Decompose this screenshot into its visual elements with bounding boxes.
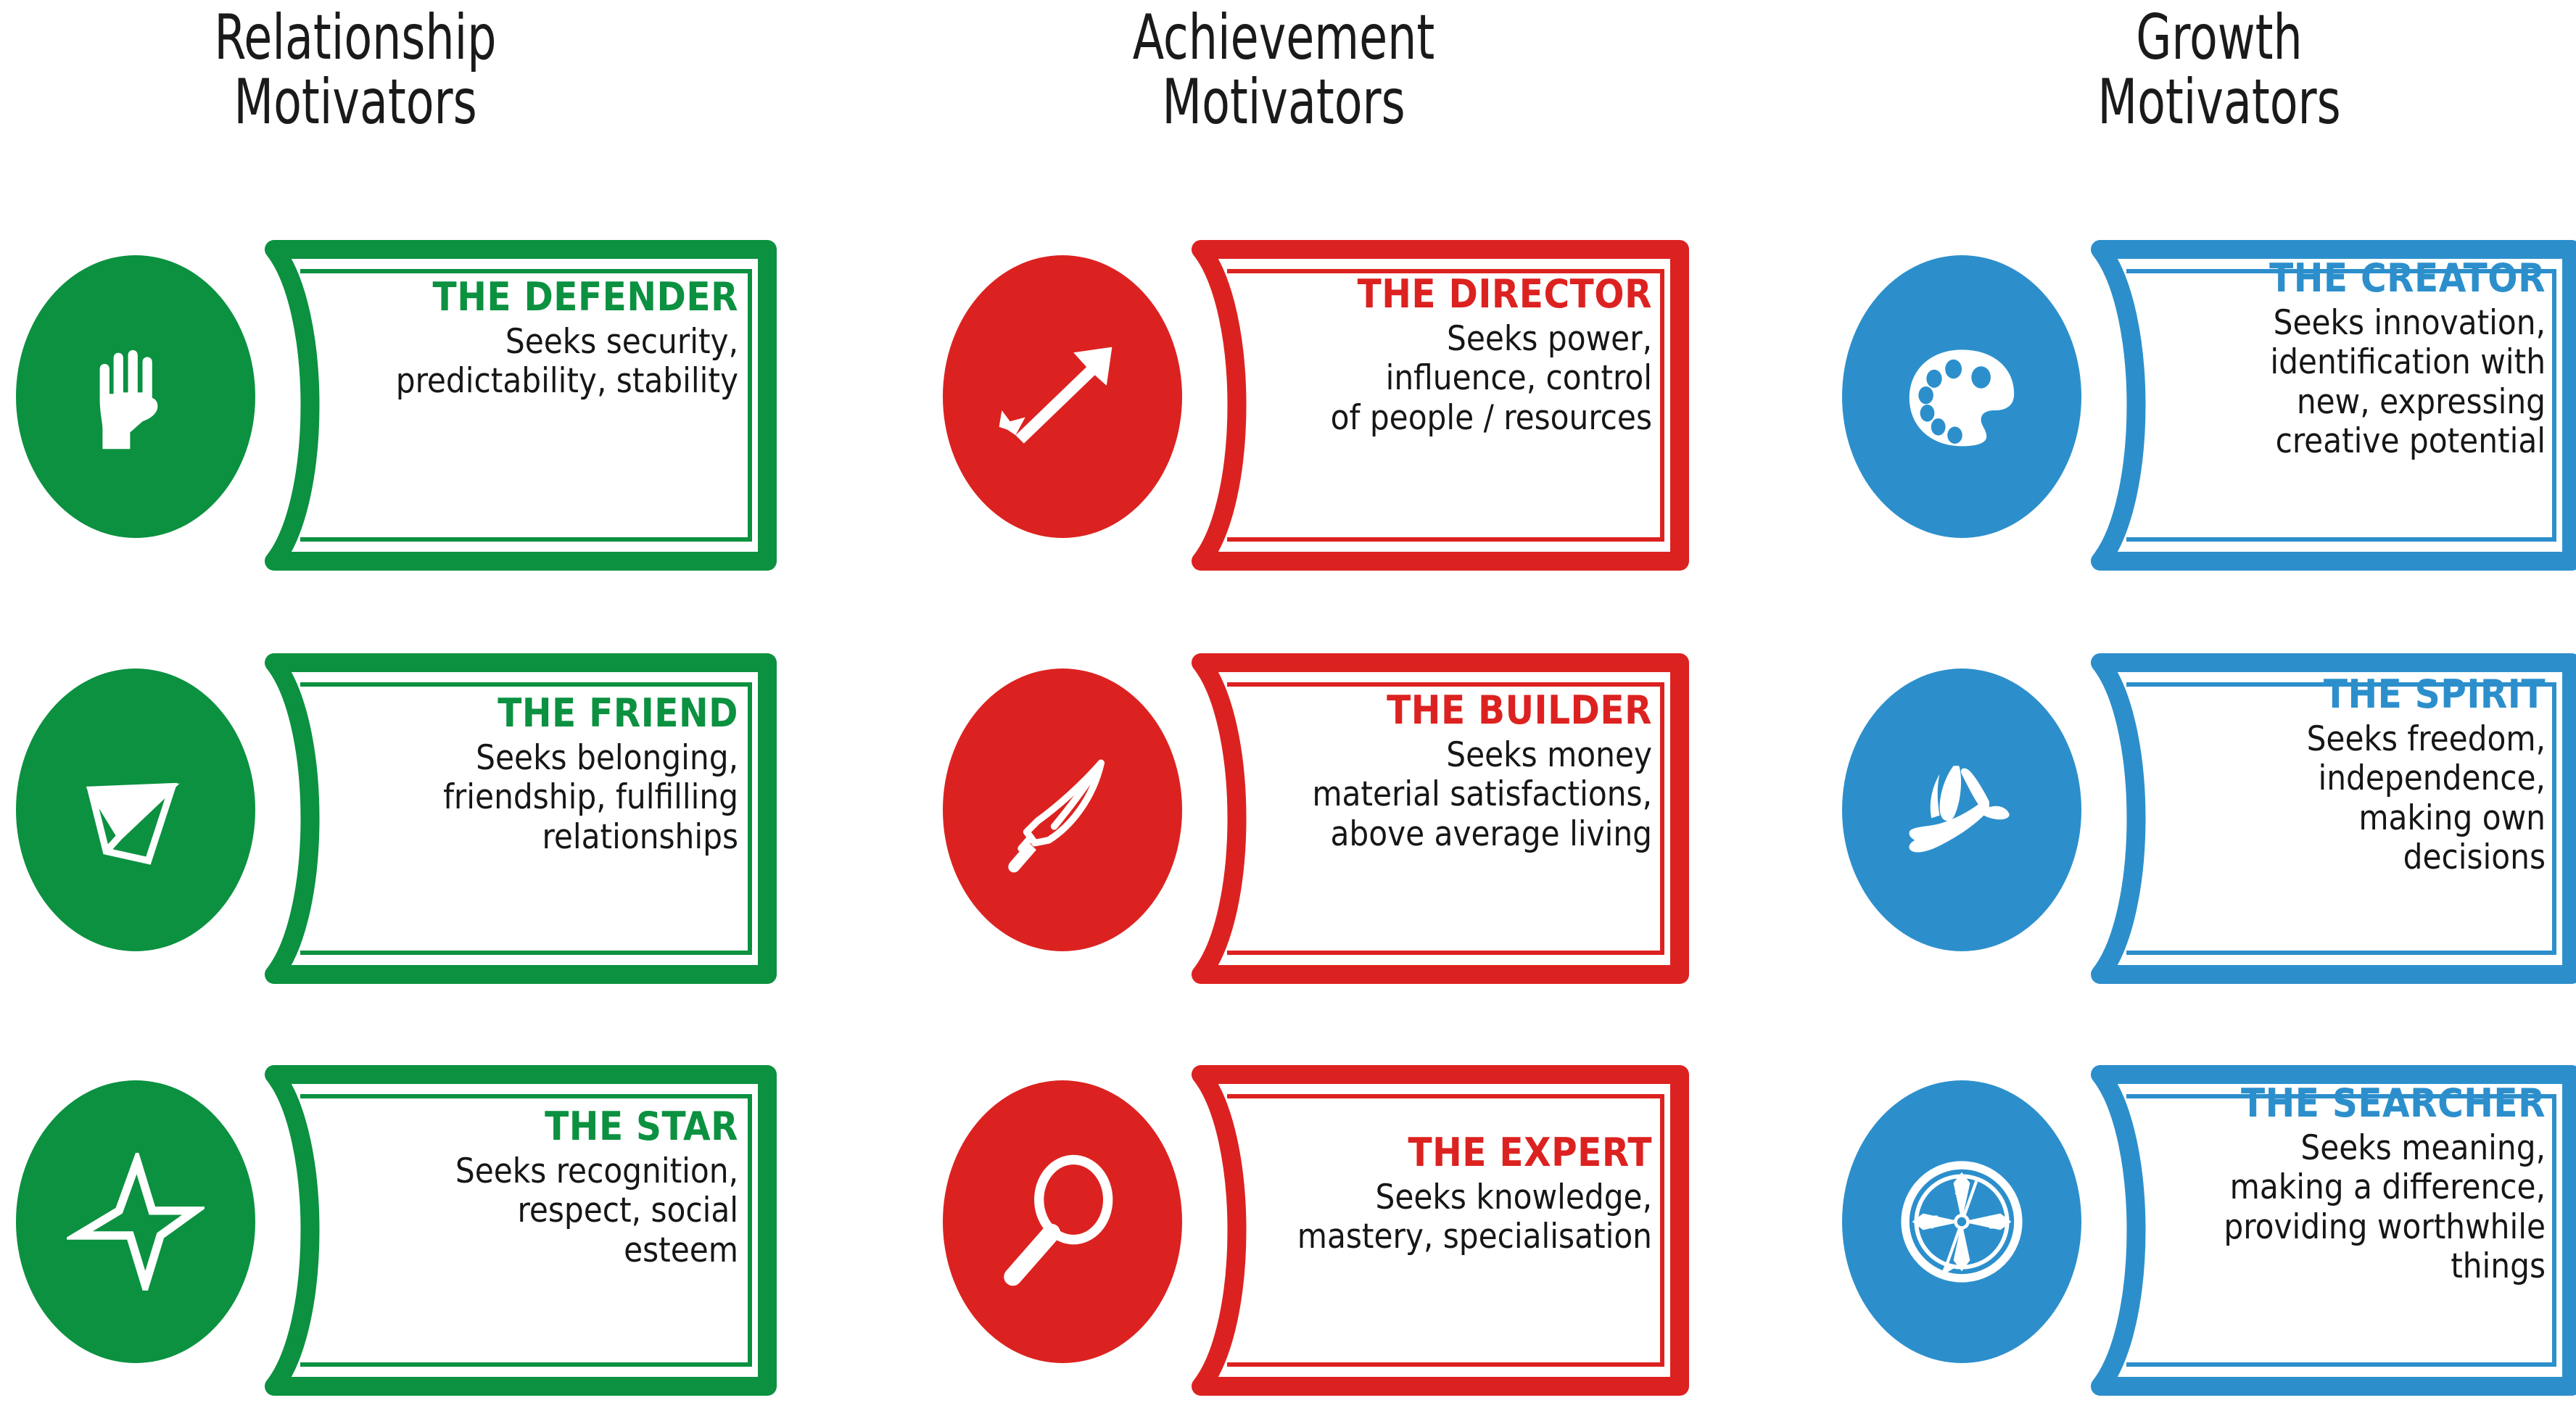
desc-line: Seeks power, <box>1252 320 1652 360</box>
desc-line: above average living <box>1252 815 1652 855</box>
card-banner: THE BUILDER Seeks money material satisfa… <box>1182 653 1690 985</box>
card-the-expert[interactable]: THE EXPERT Seeks knowledge, mastery, spe… <box>943 1064 1755 1412</box>
desc-line: of people / resources <box>1252 399 1652 439</box>
card-title: THE CREATOR <box>2151 258 2546 299</box>
card-the-friend[interactable]: THE FRIEND Seeks belonging, friendship, … <box>16 653 828 1001</box>
desc-line: making own <box>2151 799 2546 839</box>
card-title: THE STAR <box>328 1106 738 1148</box>
card-the-spirit[interactable]: THE SPIRIT Seeks freedom, independence, … <box>1842 653 2575 1001</box>
card-the-star[interactable]: THE STAR Seeks recognition, respect, soc… <box>16 1064 828 1412</box>
card-banner: THE EXPERT Seeks knowledge, mastery, spe… <box>1182 1064 1690 1396</box>
medallion-circle <box>16 1080 255 1363</box>
card-title: THE SPIRIT <box>2151 674 2546 716</box>
card-text-block: THE FRIEND Seeks belonging, friendship, … <box>328 693 738 857</box>
column-header-line2: Motivators <box>1952 70 2487 135</box>
card-text-block: THE SPIRIT Seeks freedom, independence, … <box>2151 674 2546 878</box>
card-text-block: THE EXPERT Seeks knowledge, mastery, spe… <box>1252 1133 1652 1257</box>
card-banner: THE SEARCHER Seeks meaning, making a dif… <box>2081 1064 2576 1396</box>
compass-label-south: S <box>1956 1246 1968 1267</box>
desc-line: Seeks security, <box>328 323 738 363</box>
column-header-line2: Motivators <box>88 70 623 135</box>
desc-line: respect, social <box>328 1191 738 1231</box>
card-text-block: THE BUILDER Seeks money material satisfa… <box>1252 690 1652 854</box>
dove-icon <box>1893 741 2031 879</box>
open-hand-icon <box>67 328 205 465</box>
desc-line: mastery, specialisation <box>1252 1217 1652 1257</box>
card-the-defender[interactable]: THE DEFENDER Seeks security, predictabil… <box>16 239 828 587</box>
trowel-icon <box>994 741 1131 879</box>
desc-line: providing worthwhile <box>2138 1208 2546 1248</box>
card-the-builder[interactable]: THE BUILDER Seeks money material satisfa… <box>943 653 1755 1001</box>
medallion-circle <box>1842 255 2081 538</box>
card-banner: THE CREATOR Seeks innovation, identifica… <box>2081 239 2576 571</box>
motivators-infographic: Relationship Motivators Achievement Moti… <box>0 0 2576 1424</box>
column-header-line2: Motivators <box>1016 70 1551 135</box>
column-header-growth: Growth Motivators <box>1952 6 2487 134</box>
card-banner: THE STAR Seeks recognition, respect, soc… <box>255 1064 777 1396</box>
medallion-circle <box>1842 668 2081 951</box>
desc-line: things <box>2138 1247 2546 1287</box>
desc-line: Seeks recognition, <box>328 1152 738 1192</box>
card-the-searcher[interactable]: N E S W THE SEARCHER Seeks meaning, maki… <box>1842 1064 2575 1412</box>
card-title: THE SEARCHER <box>2138 1083 2546 1125</box>
card-description: Seeks meaning, making a difference, prov… <box>2138 1129 2546 1287</box>
magnifying-glass-icon <box>994 1153 1131 1291</box>
desc-line: Seeks belonging, <box>328 739 738 779</box>
card-description: Seeks money material satisfactions, abov… <box>1252 736 1652 855</box>
card-description: Seeks security, predictability, stabilit… <box>328 323 738 402</box>
card-text-block: THE SEARCHER Seeks meaning, making a dif… <box>2138 1083 2546 1287</box>
desc-line: identification with <box>2151 343 2546 383</box>
card-description: Seeks knowledge, mastery, specialisation <box>1252 1178 1652 1257</box>
desc-line: Seeks knowledge, <box>1252 1178 1652 1218</box>
medallion-circle: N E S W <box>1842 1080 2081 1363</box>
star-outline-icon <box>67 1153 205 1291</box>
medallion-circle <box>16 668 255 951</box>
paint-palette-icon <box>1893 328 2031 465</box>
desc-line: Seeks meaning, <box>2138 1129 2546 1169</box>
card-text-block: THE DEFENDER Seeks security, predictabil… <box>328 277 738 402</box>
desc-line: esteem <box>328 1231 738 1271</box>
envelope-icon <box>67 741 205 879</box>
desc-line: making a difference, <box>2138 1168 2546 1208</box>
card-text-block: THE STAR Seeks recognition, respect, soc… <box>328 1106 738 1270</box>
column-header-line1: Growth <box>2136 1 2302 74</box>
desc-line: Seeks money <box>1252 736 1652 776</box>
card-the-creator[interactable]: THE CREATOR Seeks innovation, identifica… <box>1842 239 2575 587</box>
column-header-line1: Achievement <box>1133 1 1434 74</box>
desc-line: decisions <box>2151 838 2546 878</box>
compass-label-north: N <box>1954 1177 1970 1199</box>
card-description: Seeks belonging, friendship, fulfilling … <box>328 739 738 858</box>
medallion-circle <box>943 668 1182 951</box>
desc-line: new, expressing <box>2151 383 2546 423</box>
card-description: Seeks freedom, independence, making own … <box>2151 720 2546 878</box>
card-description: Seeks power, influence, control of peopl… <box>1252 320 1652 439</box>
card-text-block: THE CREATOR Seeks innovation, identifica… <box>2151 258 2546 462</box>
card-banner: THE SPIRIT Seeks freedom, independence, … <box>2081 653 2576 985</box>
card-title: THE DIRECTOR <box>1252 274 1652 315</box>
desc-line: material satisfactions, <box>1252 775 1652 815</box>
card-description: Seeks innovation, identification with ne… <box>2151 304 2546 462</box>
rising-arrow-icon <box>994 328 1131 465</box>
card-title: THE DEFENDER <box>328 277 738 318</box>
desc-line: friendship, fulfilling <box>328 778 738 818</box>
desc-line: independence, <box>2151 759 2546 799</box>
desc-line: predictability, stability <box>328 362 738 402</box>
card-banner: THE FRIEND Seeks belonging, friendship, … <box>255 653 777 985</box>
desc-line: Seeks freedom, <box>2151 720 2546 760</box>
card-title: THE BUILDER <box>1252 690 1652 732</box>
desc-line: Seeks innovation, <box>2151 304 2546 344</box>
medallion-circle <box>16 255 255 538</box>
desc-line: influence, control <box>1252 359 1652 399</box>
column-header-achievement: Achievement Motivators <box>1016 6 1551 134</box>
card-description: Seeks recognition, respect, social estee… <box>328 1152 738 1271</box>
compass-icon: N E S W <box>1893 1153 2031 1291</box>
card-banner: THE DIRECTOR Seeks power, influence, con… <box>1182 239 1690 571</box>
card-text-block: THE DIRECTOR Seeks power, influence, con… <box>1252 274 1652 438</box>
column-header-line1: Relationship <box>214 1 496 74</box>
card-banner: THE DEFENDER Seeks security, predictabil… <box>255 239 777 571</box>
compass-label-east: E <box>1989 1212 2002 1233</box>
desc-line: relationships <box>328 818 738 858</box>
card-the-director[interactable]: THE DIRECTOR Seeks power, influence, con… <box>943 239 1755 587</box>
compass-label-west: W <box>1920 1212 1939 1233</box>
column-header-relationship: Relationship Motivators <box>88 6 623 134</box>
medallion-circle <box>943 255 1182 538</box>
card-title: THE EXPERT <box>1252 1133 1652 1174</box>
card-title: THE FRIEND <box>328 693 738 734</box>
desc-line: creative potential <box>2151 422 2546 462</box>
medallion-circle <box>943 1080 1182 1363</box>
